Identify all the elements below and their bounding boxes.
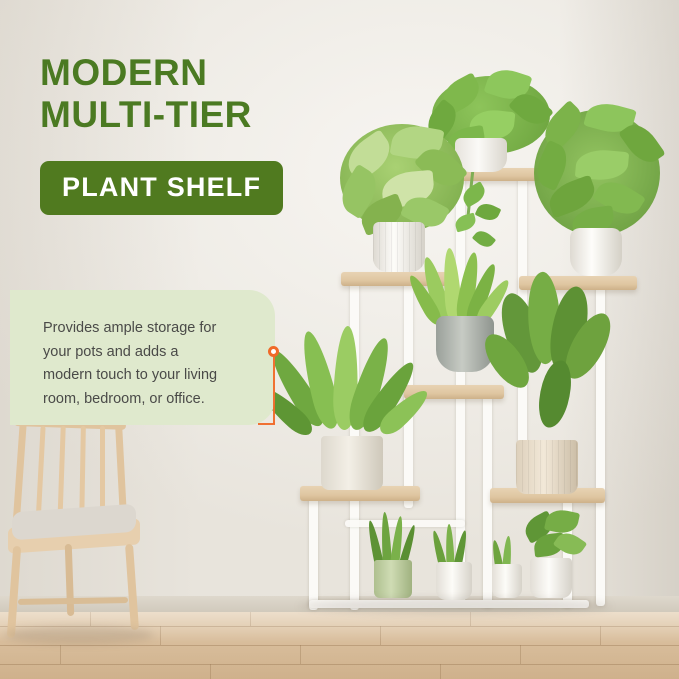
pot-beige-fluted [516, 440, 578, 494]
chair-leg-front-left [7, 546, 21, 638]
chair-shadow [4, 626, 154, 644]
chair [0, 420, 185, 645]
product-lifestyle-image: MODERN MULTI-TIER PLANT SHELF Provides a… [0, 0, 679, 679]
page-title: MODERN MULTI-TIER [40, 52, 252, 136]
pot-white-small-a [436, 562, 472, 600]
shelf-shadow [300, 598, 610, 614]
pot-white-peace-lily [570, 228, 622, 276]
pot-white-small-b [492, 564, 522, 598]
pot-green-small [374, 560, 412, 598]
pot-white-small-c [530, 558, 572, 598]
chair-leg-front-right [125, 544, 139, 630]
status-badge: PLANT SHELF [40, 161, 283, 215]
callout-text: Provides ample storage for your pots and… [43, 317, 265, 412]
shelf-post-7 [309, 492, 318, 610]
callout-connector-horizontal [258, 423, 275, 425]
pot-cream-textured [321, 436, 383, 490]
callout-connector-vertical [273, 352, 275, 424]
chair-stretcher [18, 597, 128, 605]
pot-white-ribbed [373, 222, 425, 272]
chair-leg-back [65, 544, 75, 616]
callout-marker-icon [268, 346, 279, 357]
